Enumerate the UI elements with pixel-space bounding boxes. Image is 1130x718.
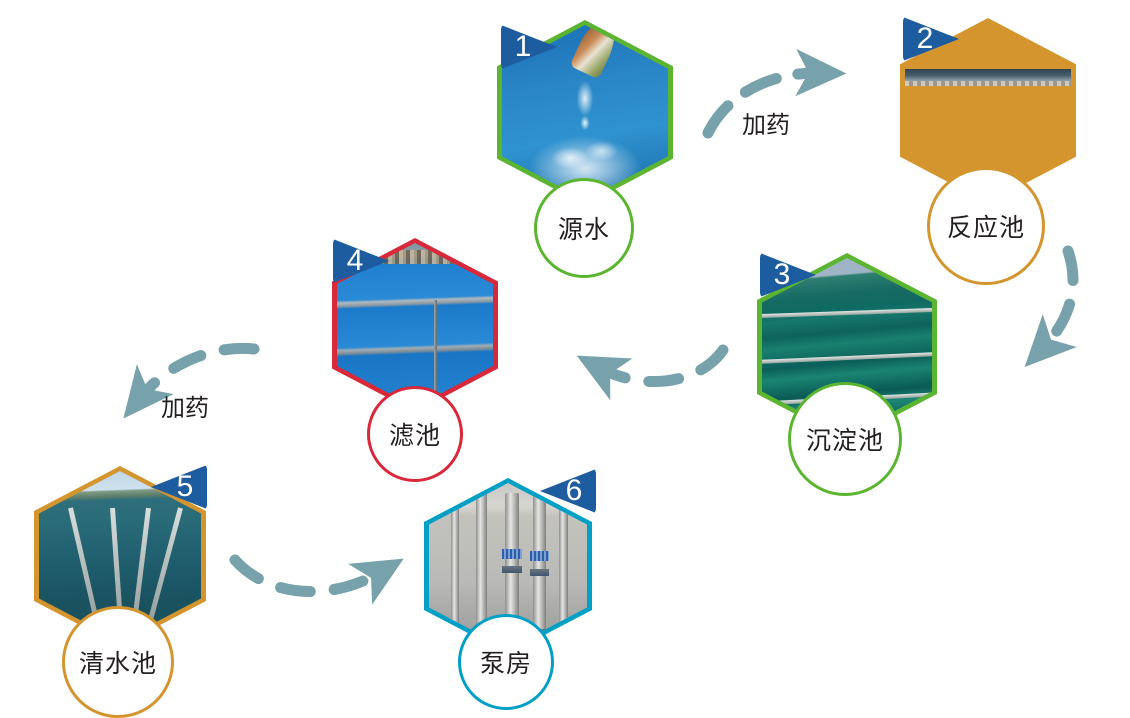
connector-5-to-6 xyxy=(235,560,381,592)
step-1-label-circle[interactable]: 源水 xyxy=(534,178,634,278)
step-4-label-circle[interactable]: 滤池 xyxy=(367,386,463,482)
step-1-number-badge: 1 xyxy=(501,22,557,72)
connector-label-dosing-2: 加药 xyxy=(161,388,209,423)
step-2-label: 反应池 xyxy=(947,208,1025,244)
step-2-label-circle[interactable]: 反应池 xyxy=(927,167,1045,285)
step-6-label: 泵房 xyxy=(480,644,532,680)
step-3-number: 3 xyxy=(774,260,791,290)
step-5-number: 5 xyxy=(177,472,194,502)
connector-3-to-4 xyxy=(600,350,723,382)
step-3-label-circle[interactable]: 沉淀池 xyxy=(788,382,902,496)
step-5-label: 清水池 xyxy=(79,644,157,680)
step-5-number-badge: 5 xyxy=(151,462,207,512)
step-4-number: 4 xyxy=(347,246,364,276)
step-4-label: 滤池 xyxy=(389,416,441,452)
step-3-number-badge: 3 xyxy=(760,250,816,300)
step-2-number: 2 xyxy=(917,24,934,54)
step-4-number-badge: 4 xyxy=(333,236,389,286)
step-5-label-circle[interactable]: 清水池 xyxy=(62,606,174,718)
step-6-number: 6 xyxy=(566,476,583,506)
step-6-number-badge: 6 xyxy=(540,466,596,516)
step-2-number-badge: 2 xyxy=(903,14,959,64)
step-3-label: 沉淀池 xyxy=(806,421,884,457)
step-1-label: 源水 xyxy=(558,210,610,246)
step-6-label-circle[interactable]: 泵房 xyxy=(458,614,554,710)
step-1-number: 1 xyxy=(515,32,532,62)
connector-arrows-layer xyxy=(0,0,1130,714)
connector-label-dosing-1: 加药 xyxy=(742,105,790,140)
process-flow-diagram: 加药 加药 1 源水 2 反应池 xyxy=(0,0,1130,714)
connector-2-to-3 xyxy=(1043,251,1073,348)
